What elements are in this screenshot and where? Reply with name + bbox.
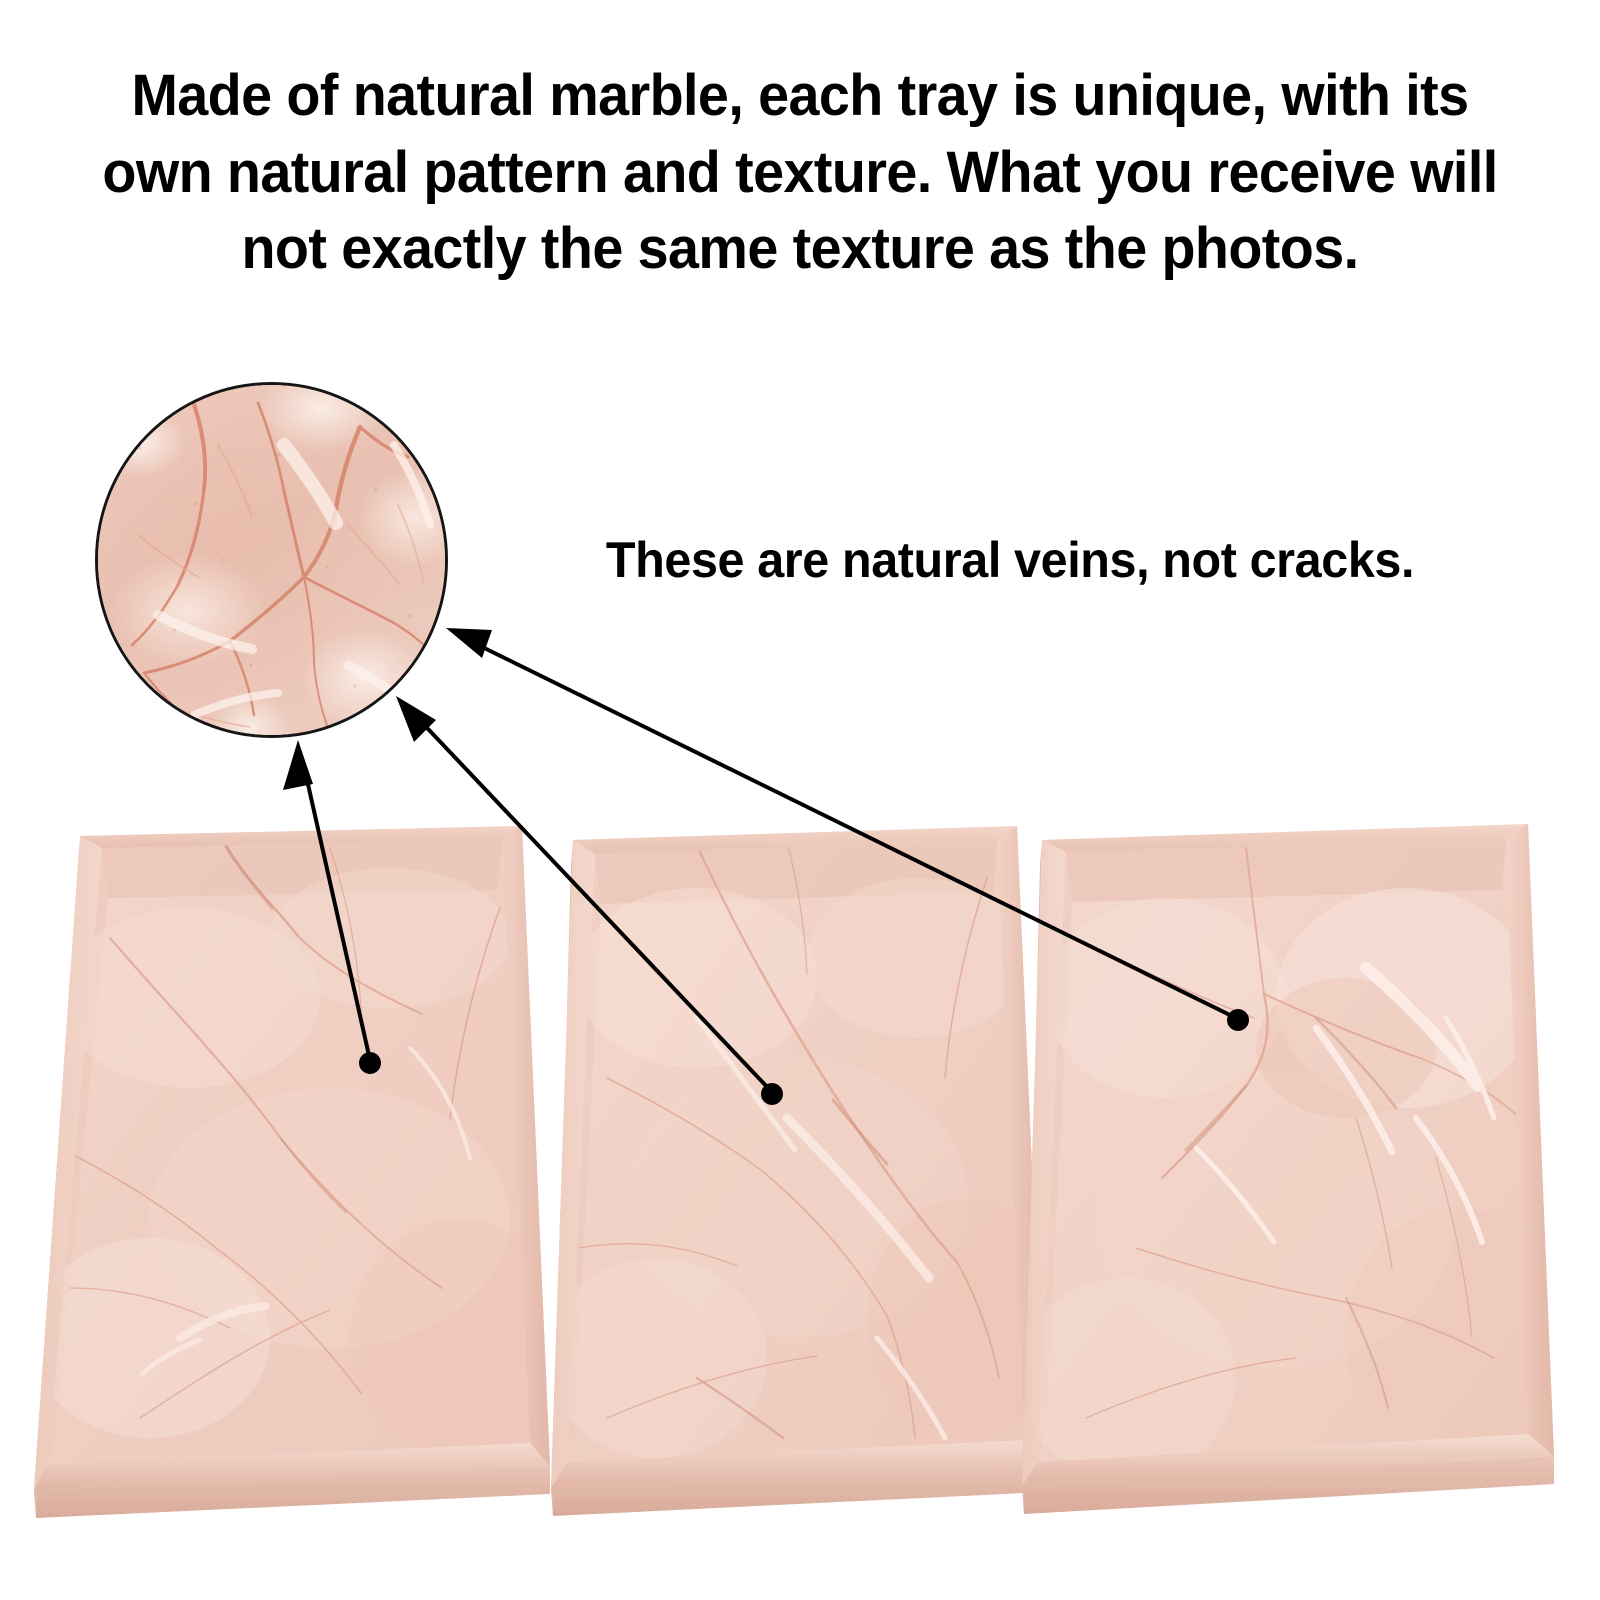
tray-left (30, 818, 550, 1538)
product-photo-trays (0, 0, 1600, 1600)
veins-callout-label: These are natural veins, not cracks. (506, 532, 1515, 590)
marble-closeup-circle (95, 382, 448, 738)
infographic-canvas: Made of natural marble, each tray is uni… (0, 0, 1600, 1600)
marble-vein-lines (98, 385, 448, 738)
tray-center (547, 818, 1047, 1538)
tray-right (1016, 818, 1556, 1538)
